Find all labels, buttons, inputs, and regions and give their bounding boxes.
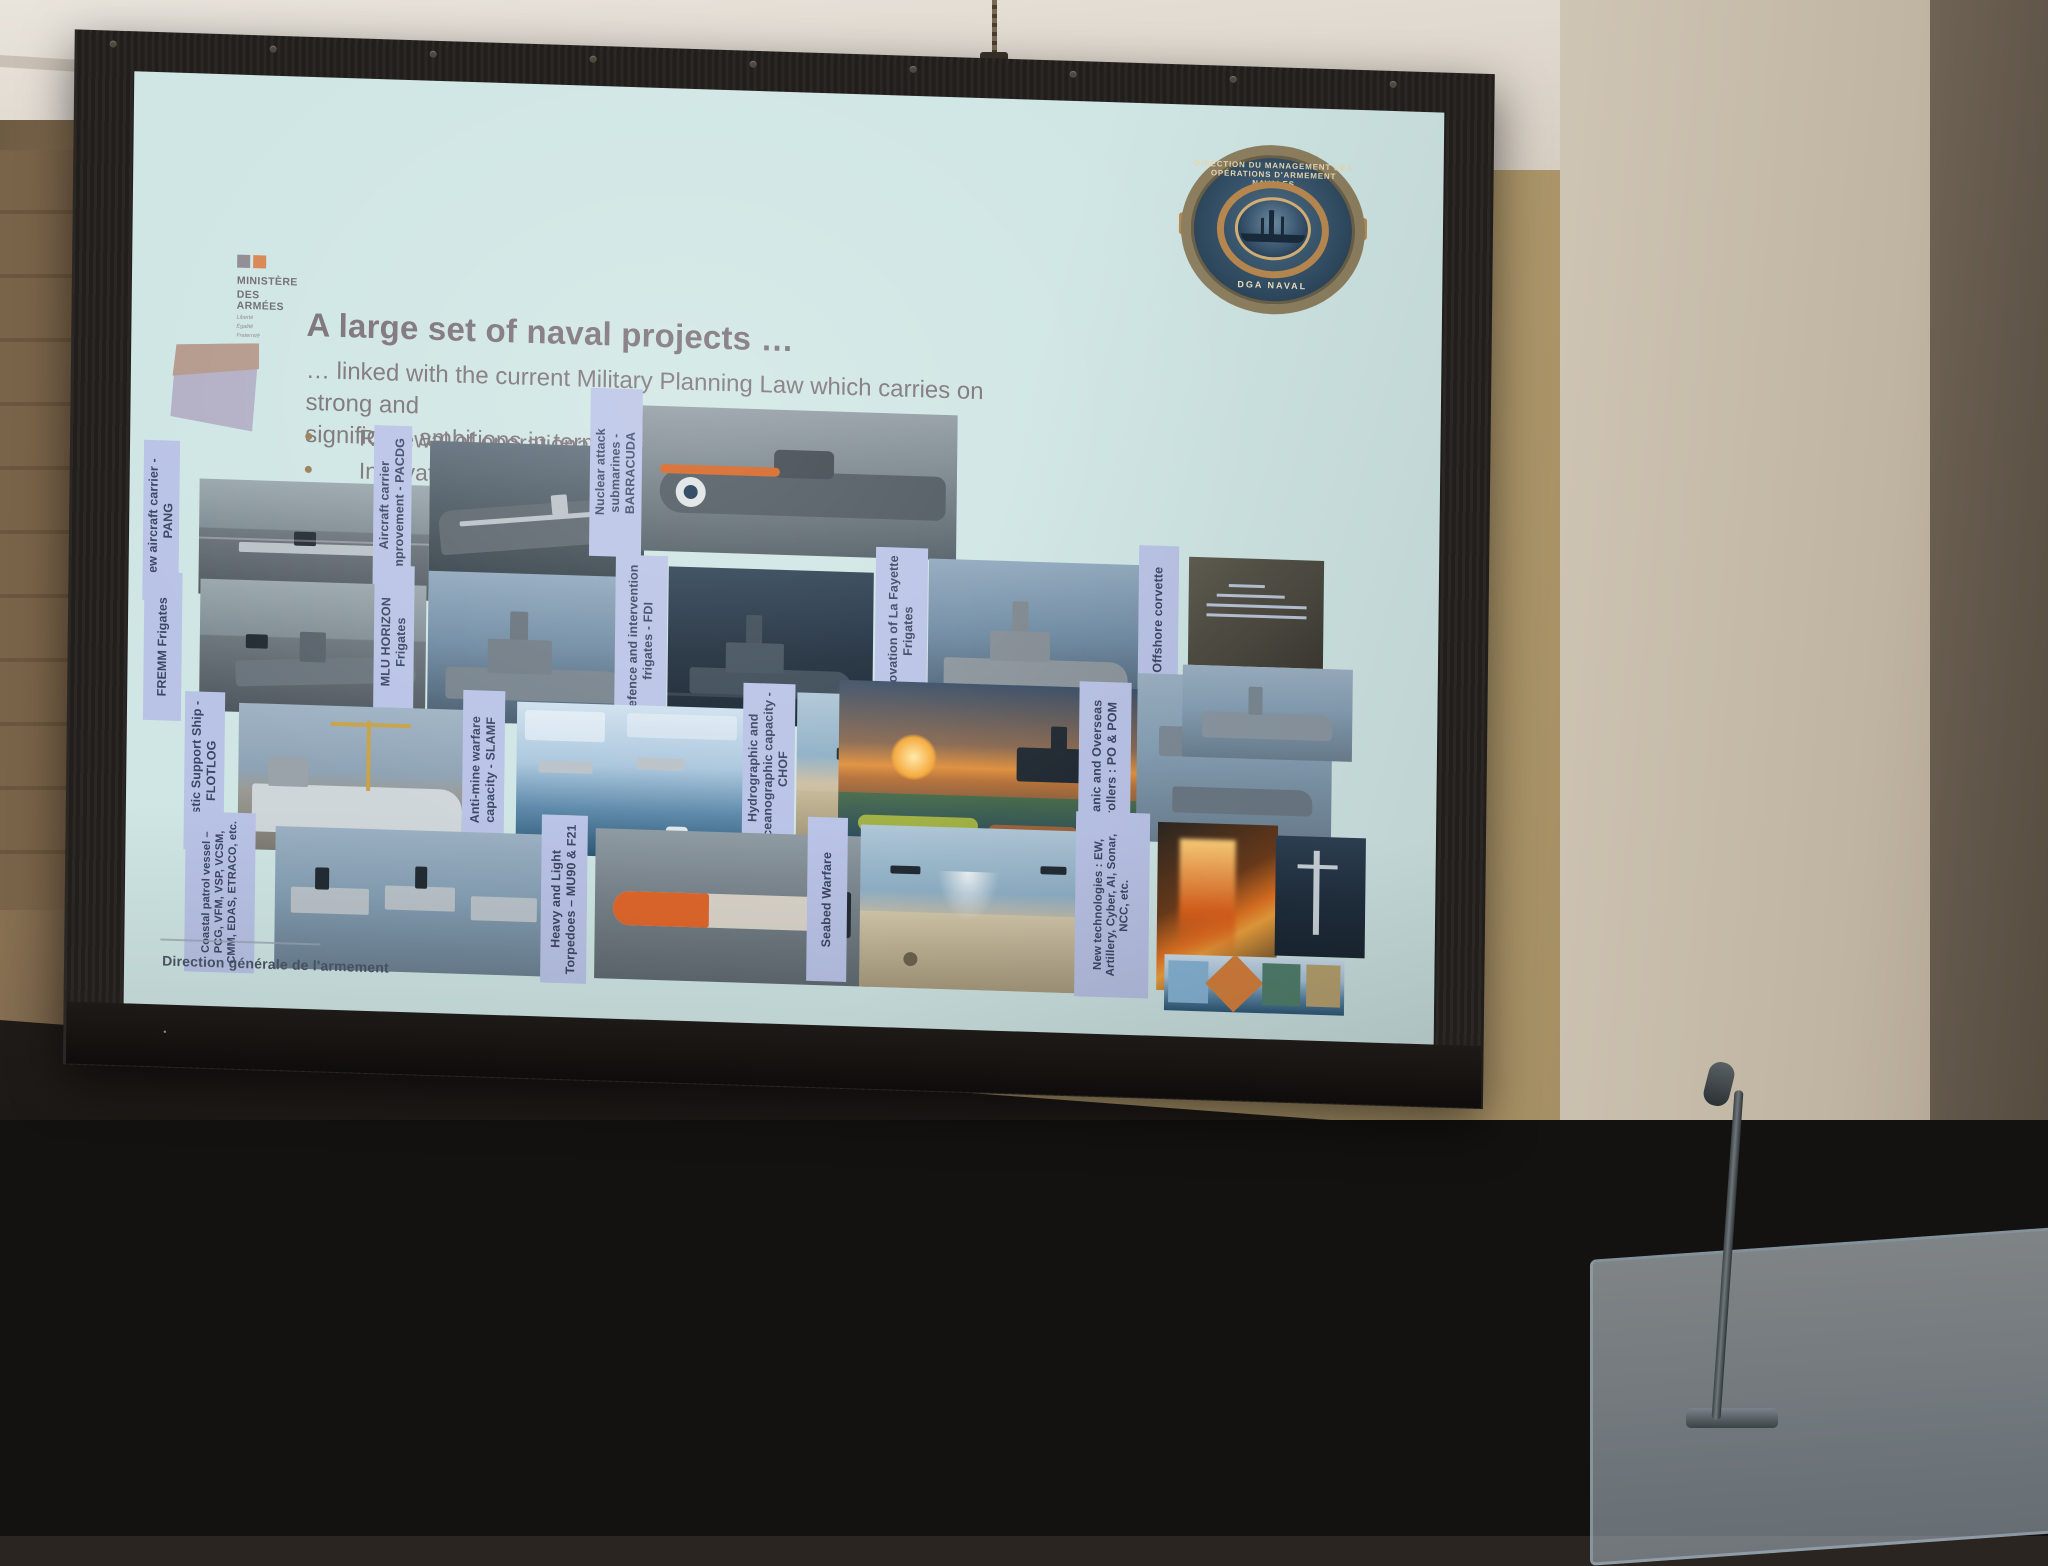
projection-screen-assembly: MINISTÈRE DES ARMÉES Liberté Égalité Fra…: [18, 10, 1550, 1138]
photo-submarine-barracuda: [641, 405, 958, 560]
project-label-fdi[interactable]: Defence and intervention frigates - FDI: [614, 555, 668, 727]
photo-seabed-warfare: [859, 824, 1111, 994]
project-label-pacdg[interactable]: Aircraft carrier improvement - PACDG: [373, 425, 413, 586]
naval-projects-grid: New aircraft carrier - PANG Aircraft car…: [124, 71, 1445, 1047]
screen-brand-label: •: [163, 1027, 167, 1037]
project-label-chof[interactable]: Hydrographic and oceanographic capacity …: [742, 683, 796, 855]
presentation-slide: MINISTÈRE DES ARMÉES Liberté Égalité Fra…: [124, 71, 1445, 1047]
project-label-coastal-patrol[interactable]: Coastal patrol vessel – PCG, VFM, VSP, V…: [184, 811, 256, 973]
glass-podium: [1590, 1220, 2048, 1566]
project-label-horizon[interactable]: MLU HORIZON Frigates: [373, 565, 415, 718]
project-label-seabed-warfare[interactable]: Seabed Warfare: [806, 817, 848, 982]
project-label-offshore-corvette[interactable]: Offshore corvette: [1138, 545, 1180, 694]
microphone-base: [1686, 1408, 1778, 1428]
project-label-slamf[interactable]: Anti-mine warfare capacity - SLAMF: [462, 690, 506, 849]
photo-coastal-patrol-boats: [274, 826, 556, 977]
photo-tech-sensor-tower: [1275, 836, 1366, 959]
project-label-barracuda[interactable]: Nuclear attack submarines - BARRACUDA: [589, 388, 643, 558]
project-label-fremm[interactable]: FREMM Frigates: [143, 572, 183, 721]
photo-offshore-corvette: [1188, 557, 1324, 669]
project-label-torpedoes[interactable]: Heavy and Light Torpedoes – MU90 & F21: [540, 814, 588, 983]
photo-corvette-right: [1182, 665, 1353, 762]
photo-tech-tiles: [1164, 954, 1345, 1016]
project-label-new-technologies[interactable]: New technologies : EW, Artillery, Cyber,…: [1074, 811, 1150, 998]
